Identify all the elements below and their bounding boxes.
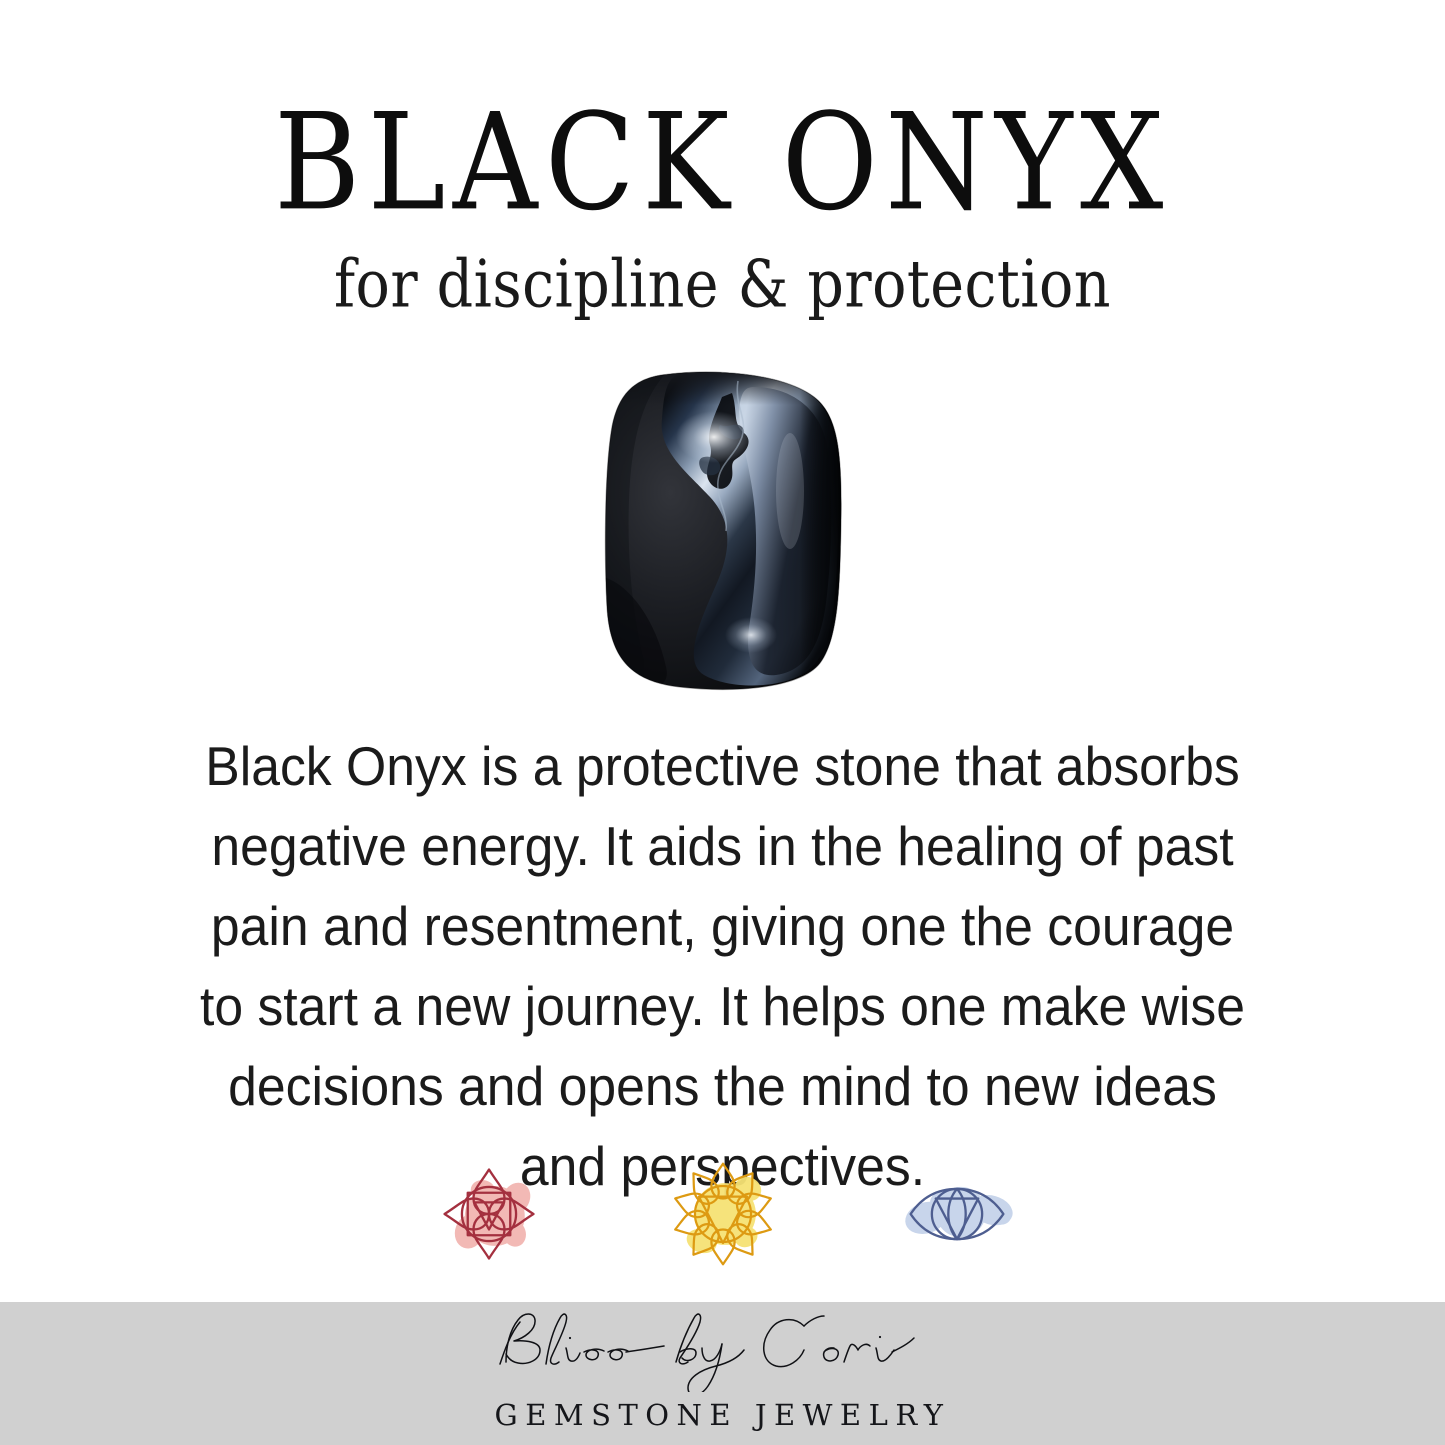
bliss-by-cori-script-icon [488, 1308, 958, 1392]
gemstone-description: Black Onyx is a protective stone that ab… [184, 726, 1260, 1206]
page-subtitle: for discipline & protection [58, 252, 1387, 317]
footer-brand-bar: GEMSTONE JEWELRY [0, 1302, 1445, 1445]
gemstone-image [604, 371, 842, 691]
page-title: BLACK ONYX [51, 96, 1395, 230]
solar-plexus-chakra-icon [665, 1156, 781, 1272]
chakra-row [0, 1156, 1445, 1272]
third-eye-chakra-icon [899, 1156, 1015, 1272]
root-chakra-icon [431, 1156, 547, 1272]
gemstone-info-card: BLACK ONYX for discipline & protection [0, 0, 1445, 1445]
brand-tagline: GEMSTONE JEWELRY [0, 1398, 1445, 1432]
brand-logo-script [0, 1308, 1445, 1386]
black-onyx-stone-icon [604, 371, 842, 691]
